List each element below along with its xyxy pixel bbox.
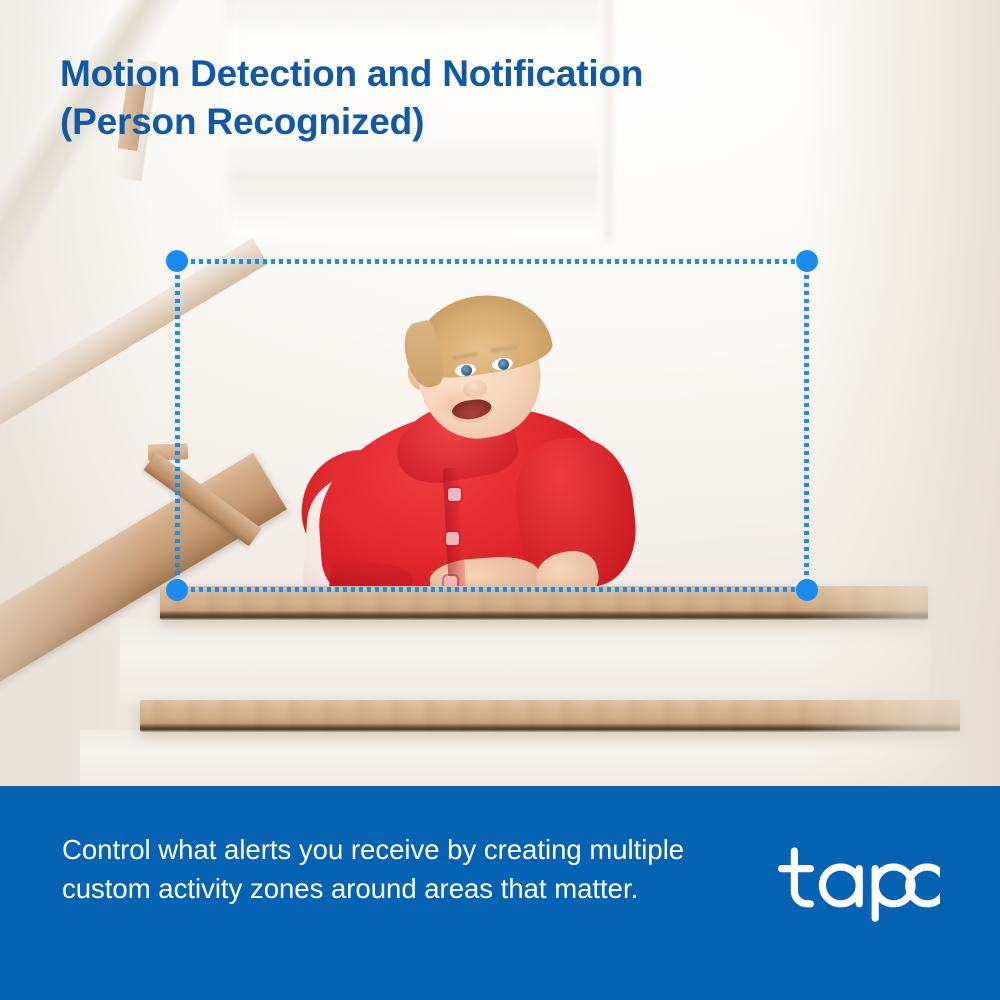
title-line-2: (Person Recognized)	[60, 98, 880, 146]
zone-handle-bottom-left[interactable]	[166, 579, 188, 601]
detection-zone-box[interactable]	[175, 259, 809, 592]
zone-handle-bottom-right[interactable]	[796, 579, 818, 601]
zone-handle-top-left[interactable]	[166, 250, 188, 272]
title-line-1: Motion Detection and Notification	[60, 53, 643, 94]
tapo-logo	[772, 844, 940, 922]
page-title: Motion Detection and Notification (Perso…	[60, 50, 880, 146]
zone-edge-bottom[interactable]	[175, 587, 809, 592]
zone-handle-top-right[interactable]	[796, 250, 818, 272]
zone-edge-left[interactable]	[175, 259, 180, 592]
bottom-banner: Control what alerts you receive by creat…	[0, 786, 1000, 1000]
zone-edge-top[interactable]	[175, 259, 809, 264]
banner-caption: Control what alerts you receive by creat…	[62, 830, 752, 908]
zone-edge-right[interactable]	[804, 259, 809, 592]
promo-graphic: Motion Detection and Notification (Perso…	[0, 0, 1000, 1000]
